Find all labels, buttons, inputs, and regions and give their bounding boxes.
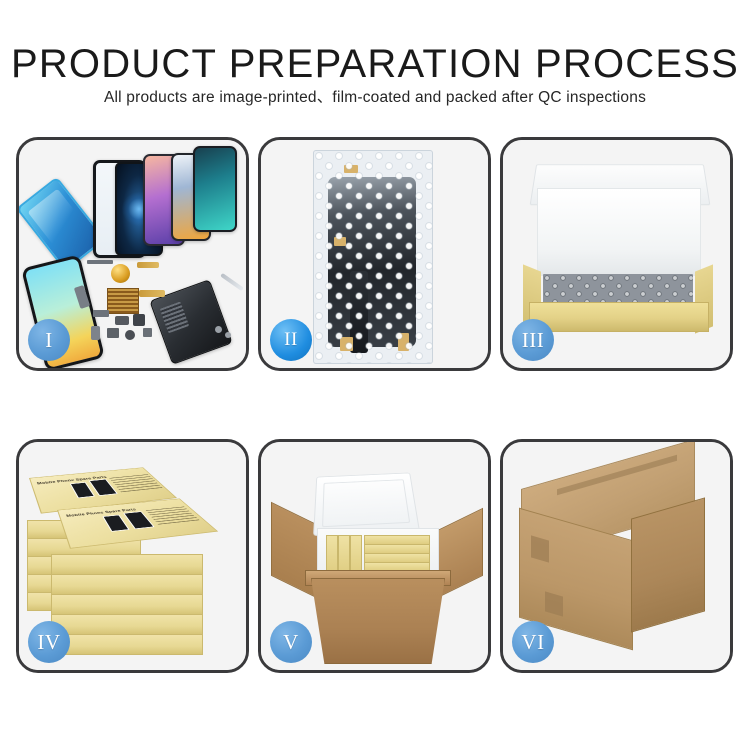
- white-foam-sheet: [537, 188, 701, 276]
- step-panel-3[interactable]: III: [500, 137, 733, 371]
- step-panel-5[interactable]: V: [258, 439, 491, 673]
- inner-box-3: [350, 535, 362, 575]
- vibration-motor-part: [111, 264, 130, 283]
- page-subtitle: All products are image-printed、film-coat…: [0, 88, 750, 108]
- camera-part: [107, 328, 119, 338]
- screw-part-2: [225, 332, 231, 338]
- step-6-photo: VI: [503, 442, 730, 670]
- bubble-texture: [314, 151, 432, 363]
- carton-body: [311, 578, 445, 664]
- step-2-photo: II: [261, 140, 488, 368]
- page-title: PRODUCT PREPARATION PROCESS: [0, 42, 750, 86]
- stacked-box-f1: [51, 554, 203, 575]
- speaker-part: [133, 314, 145, 326]
- box-wall-front: [529, 302, 709, 332]
- step-badge-5: V: [270, 621, 312, 663]
- step-badge-6: VI: [512, 621, 554, 663]
- step-panel-6[interactable]: VI: [500, 439, 733, 673]
- step-1-photo: I: [19, 140, 246, 368]
- small-part-a: [93, 310, 109, 317]
- stacked-box-f2: [51, 574, 203, 595]
- button-part: [125, 330, 135, 340]
- screw-grid-tray: [107, 288, 139, 314]
- flex-cable-1: [137, 262, 159, 268]
- step-panel-1[interactable]: I: [16, 137, 249, 371]
- foam-case-lid: [313, 472, 420, 535]
- small-part-b: [115, 316, 129, 325]
- phone-teal-display: [193, 146, 237, 232]
- stacked-box-f4: [51, 614, 203, 635]
- carton-side-face: [631, 497, 705, 632]
- step-badge-1: I: [28, 319, 70, 361]
- step-badge-4: IV: [28, 621, 70, 663]
- step-badge-3: III: [512, 319, 554, 361]
- small-part-strip: [87, 260, 113, 264]
- product-preparation-infographic: PRODUCT PREPARATION PROCESS All products…: [0, 0, 750, 750]
- box-spec-lines-back: [109, 474, 163, 492]
- step-badge-2: II: [270, 319, 312, 361]
- tweezers-tool: [220, 273, 244, 291]
- inner-box-1: [326, 535, 338, 575]
- bubble-wrap-bag: [313, 150, 433, 364]
- battery-part: [91, 326, 100, 340]
- step-panel-2[interactable]: II: [258, 137, 491, 371]
- step-4-photo: Mobile Phone Spare Parts Mobile Phone Sp…: [19, 442, 246, 670]
- step-5-photo: V: [261, 442, 488, 670]
- box-spec-lines-front: [145, 506, 199, 525]
- stacked-box-f5: [51, 634, 203, 655]
- screw-part-1: [215, 326, 222, 333]
- process-steps-grid: I II: [16, 137, 734, 673]
- sim-tray-part: [143, 328, 152, 337]
- step-panel-4[interactable]: Mobile Phone Spare Parts Mobile Phone Sp…: [16, 439, 249, 673]
- flex-cable-2: [139, 290, 165, 297]
- step-3-photo: III: [503, 140, 730, 368]
- inner-box-2: [338, 535, 350, 575]
- stacked-box-f3: [51, 594, 203, 615]
